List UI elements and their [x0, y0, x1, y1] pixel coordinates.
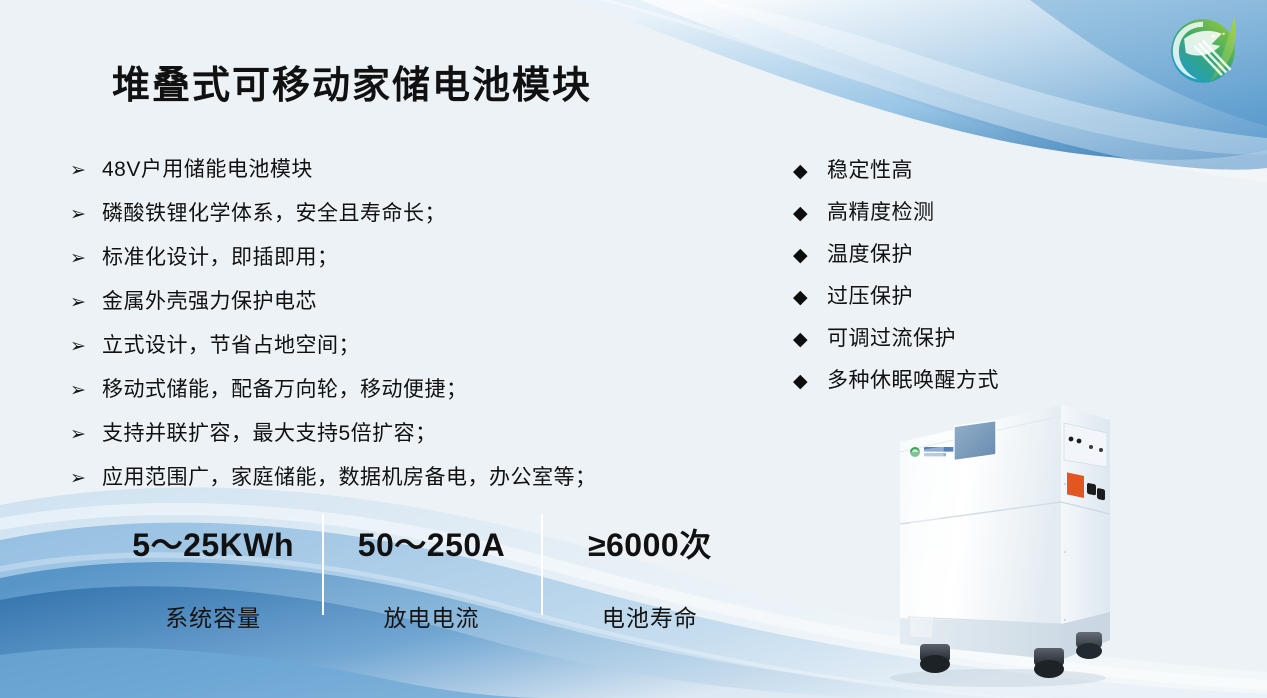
arrow-bullet-icon: ➢ — [70, 193, 102, 237]
feature-list-left: ➢ 48V户用储能电池模块 ➢ 磷酸铁锂化学体系，安全且寿命长； ➢ 标准化设计… — [70, 148, 730, 500]
arrow-bullet-icon: ➢ — [70, 237, 102, 281]
list-item: ➢ 立式设计，节省占地空间； — [70, 324, 730, 368]
stat-value: ≥6000次 — [541, 520, 759, 566]
list-item: ◆ 稳定性高 — [793, 150, 1083, 192]
list-item-label: 标准化设计，即插即用； — [102, 236, 339, 280]
arrow-bullet-icon: ➢ — [70, 281, 102, 325]
stat-value: 50〜250A — [322, 520, 540, 566]
list-item: ◆ 过压保护 — [793, 276, 1083, 318]
arrow-bullet-icon: ➢ — [70, 149, 102, 193]
logo-icon — [1160, 8, 1246, 94]
spec-stats-row: 5〜25KWh 系统容量 50〜250A 放电电流 ≥6000次 电池寿命 — [104, 512, 759, 617]
list-item-label: 金属外壳强力保护电芯 — [102, 280, 317, 324]
list-item-label: 立式设计，节省占地空间； — [102, 324, 360, 368]
arrow-bullet-icon: ➢ — [70, 369, 102, 413]
diamond-bullet-icon: ◆ — [793, 151, 827, 193]
list-item: ➢ 标准化设计，即插即用； — [70, 236, 730, 280]
list-item-label: 支持并联扩容，最大支持5倍扩容； — [102, 412, 437, 456]
stat-label: 放电电流 — [322, 599, 540, 633]
list-item-label: 移动式储能，配备万向轮，移动便捷； — [102, 368, 468, 412]
list-item: ➢ 磷酸铁锂化学体系，安全且寿命长； — [70, 192, 730, 236]
list-item-label: 稳定性高 — [827, 150, 913, 192]
stat-label: 系统容量 — [104, 599, 322, 633]
company-logo — [1160, 8, 1246, 94]
diamond-bullet-icon: ◆ — [793, 193, 827, 235]
list-item: ➢ 48V户用储能电池模块 — [70, 148, 730, 192]
arrow-bullet-icon: ➢ — [70, 325, 102, 369]
product-image — [858, 392, 1128, 692]
stat-cycle-life: ≥6000次 电池寿命 — [541, 512, 759, 617]
arrow-bullet-icon: ➢ — [70, 413, 102, 457]
stat-discharge-current: 50〜250A 放电电流 — [322, 512, 540, 617]
list-item-label: 48V户用储能电池模块 — [102, 148, 313, 192]
list-item-label: 高精度检测 — [827, 192, 935, 234]
stat-capacity: 5〜25KWh 系统容量 — [104, 512, 322, 617]
list-item: ➢ 移动式储能，配备万向轮，移动便捷； — [70, 368, 730, 412]
list-item: ➢ 支持并联扩容，最大支持5倍扩容； — [70, 412, 730, 456]
list-item-label: 应用范围广，家庭储能，数据机房备电，办公室等； — [102, 456, 597, 500]
list-item: ◆ 高精度检测 — [793, 192, 1083, 234]
arrow-bullet-icon: ➢ — [70, 457, 102, 501]
diamond-bullet-icon: ◆ — [793, 277, 827, 319]
page-title: 堆叠式可移动家储电池模块 — [112, 54, 592, 109]
list-item: ◆ 可调过流保护 — [793, 318, 1083, 360]
stat-label: 电池寿命 — [541, 599, 759, 633]
diamond-bullet-icon: ◆ — [793, 361, 827, 403]
list-item: ◆ 温度保护 — [793, 234, 1083, 276]
list-item-label: 温度保护 — [827, 234, 913, 276]
slide-root: 堆叠式可移动家储电池模块 ➢ 48V户用储能电池模块 ➢ 磷酸铁锂化学体系，安全… — [0, 0, 1267, 698]
list-item: ➢ 金属外壳强力保护电芯 — [70, 280, 730, 324]
list-item: ➢ 应用范围广，家庭储能，数据机房备电，办公室等； — [70, 456, 730, 500]
diamond-bullet-icon: ◆ — [793, 319, 827, 361]
feature-list-right: ◆ 稳定性高 ◆ 高精度检测 ◆ 温度保护 ◆ 过压保护 ◆ 可调过流保护 ◆ … — [793, 150, 1083, 402]
battery-cabinet-illustration — [858, 392, 1128, 692]
diamond-bullet-icon: ◆ — [793, 235, 827, 277]
lcd-display — [954, 421, 996, 461]
list-item-label: 磷酸铁锂化学体系，安全且寿命长； — [102, 192, 446, 236]
list-item-label: 过压保护 — [827, 276, 913, 318]
stat-value: 5〜25KWh — [104, 520, 322, 566]
list-item-label: 可调过流保护 — [827, 318, 956, 360]
